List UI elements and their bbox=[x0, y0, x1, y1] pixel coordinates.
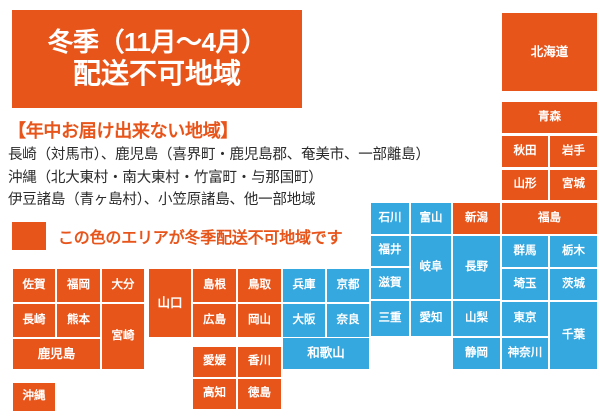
prefecture-cell: 徳島 bbox=[237, 378, 282, 410]
prefecture-cell: 京都 bbox=[326, 268, 370, 303]
prefecture-cell: 新潟 bbox=[452, 202, 501, 235]
prefecture-cell: 栃木 bbox=[549, 235, 598, 268]
prefecture-map: 北海道青森秋田岩手山形宮城石川富山新潟福島福井岐阜長野群馬栃木島根鳥取兵庫京都滋… bbox=[0, 0, 600, 420]
prefecture-cell: 茨城 bbox=[549, 268, 598, 301]
prefecture-cell: 福島 bbox=[501, 202, 598, 235]
prefecture-cell: 福井 bbox=[370, 235, 410, 267]
prefecture-cell: 埼玉 bbox=[501, 268, 549, 301]
prefecture-cell: 愛媛 bbox=[192, 346, 237, 378]
prefecture-cell: 熊本 bbox=[56, 303, 101, 338]
prefecture-cell: 愛知 bbox=[410, 300, 452, 337]
prefecture-cell: 青森 bbox=[501, 101, 598, 134]
prefecture-cell: 石川 bbox=[370, 202, 410, 235]
prefecture-cell: 三重 bbox=[370, 300, 410, 337]
prefecture-cell: 鳥取 bbox=[237, 268, 282, 303]
prefecture-cell: 奈良 bbox=[326, 303, 370, 338]
prefecture-cell: 広島 bbox=[192, 303, 237, 338]
prefecture-cell: 千葉 bbox=[549, 301, 598, 370]
prefecture-cell: 長崎 bbox=[12, 303, 56, 338]
prefecture-cell: 滋賀 bbox=[370, 267, 410, 300]
shipping-restriction-map: 冬季（11月〜4月） 配送不可地域 【年中お届け出来ない地域】 長崎（対馬市）、… bbox=[0, 0, 600, 420]
prefecture-cell: 和歌山 bbox=[282, 337, 370, 370]
prefecture-cell: 大分 bbox=[101, 268, 145, 303]
prefecture-cell: 宮崎 bbox=[101, 303, 145, 370]
prefecture-cell: 福岡 bbox=[56, 268, 101, 303]
prefecture-cell: 秋田 bbox=[501, 135, 549, 168]
prefecture-cell: 山梨 bbox=[452, 300, 501, 337]
prefecture-cell: 香川 bbox=[237, 346, 282, 378]
prefecture-cell: 東京 bbox=[501, 301, 549, 337]
prefecture-cell: 静岡 bbox=[452, 337, 501, 370]
prefecture-cell: 鹿児島 bbox=[12, 338, 101, 370]
prefecture-cell: 宮城 bbox=[549, 169, 598, 201]
prefecture-cell: 群馬 bbox=[501, 235, 549, 268]
prefecture-cell: 長野 bbox=[452, 235, 501, 300]
prefecture-cell: 高知 bbox=[192, 378, 237, 410]
prefecture-cell: 佐賀 bbox=[12, 268, 56, 303]
prefecture-cell: 北海道 bbox=[501, 12, 598, 92]
prefecture-cell: 大阪 bbox=[282, 303, 326, 338]
prefecture-cell: 島根 bbox=[192, 268, 237, 303]
prefecture-cell: 岐阜 bbox=[410, 235, 452, 300]
prefecture-cell: 山形 bbox=[501, 169, 549, 201]
prefecture-cell: 沖縄 bbox=[12, 382, 56, 412]
prefecture-cell: 兵庫 bbox=[282, 268, 326, 303]
prefecture-cell: 富山 bbox=[410, 202, 452, 235]
prefecture-cell: 神奈川 bbox=[501, 337, 549, 370]
prefecture-cell: 岩手 bbox=[549, 135, 598, 168]
prefecture-cell: 岡山 bbox=[237, 303, 282, 338]
prefecture-cell: 山口 bbox=[148, 268, 192, 338]
